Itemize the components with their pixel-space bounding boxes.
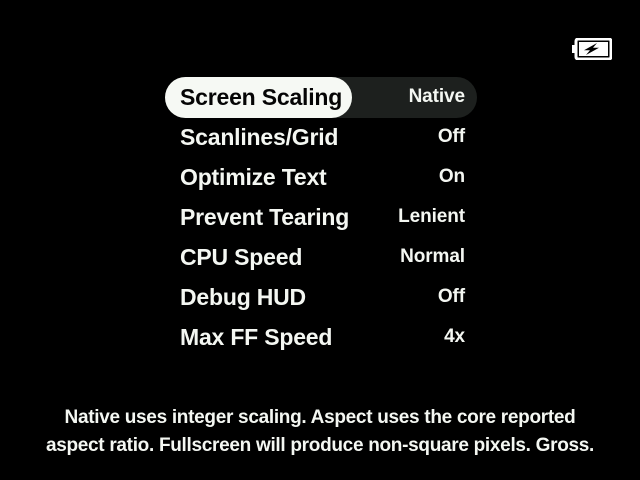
menu-item-debug-hud[interactable]: Debug HUD Off xyxy=(165,277,477,317)
menu-item-label: Optimize Text xyxy=(165,164,327,191)
menu-item-scanlines-grid[interactable]: Scanlines/Grid Off xyxy=(165,117,477,157)
menu-item-max-ff-speed[interactable]: Max FF Speed 4x xyxy=(165,317,477,357)
menu-item-value[interactable]: Lenient xyxy=(398,206,477,228)
help-text-line-1: Native uses integer scaling. Aspect uses… xyxy=(0,404,640,432)
menu-item-value[interactable]: Normal xyxy=(400,246,477,268)
menu-item-label: CPU Speed xyxy=(165,244,302,271)
help-text-line-2: aspect ratio. Fullscreen will produce no… xyxy=(0,432,640,460)
menu-item-label: Debug HUD xyxy=(165,284,306,311)
status-bar xyxy=(0,0,640,70)
settings-menu: Screen Scaling Native Scanlines/Grid Off… xyxy=(165,77,477,357)
menu-item-value[interactable]: Native xyxy=(409,86,477,108)
menu-item-label: Screen Scaling xyxy=(165,84,342,111)
menu-item-label: Scanlines/Grid xyxy=(165,124,338,151)
menu-item-value[interactable]: Off xyxy=(438,126,477,148)
menu-item-value[interactable]: 4x xyxy=(444,326,477,348)
menu-item-cpu-speed[interactable]: CPU Speed Normal xyxy=(165,237,477,277)
battery-charging-icon xyxy=(572,38,612,60)
menu-item-prevent-tearing[interactable]: Prevent Tearing Lenient xyxy=(165,197,477,237)
menu-item-value[interactable]: Off xyxy=(438,286,477,308)
settings-screen: Screen Scaling Native Scanlines/Grid Off… xyxy=(0,0,640,480)
menu-item-label: Max FF Speed xyxy=(165,324,332,351)
help-text: Native uses integer scaling. Aspect uses… xyxy=(0,404,640,460)
menu-item-optimize-text[interactable]: Optimize Text On xyxy=(165,157,477,197)
menu-item-label: Prevent Tearing xyxy=(165,204,349,231)
menu-item-screen-scaling[interactable]: Screen Scaling Native xyxy=(165,77,477,117)
menu-item-value[interactable]: On xyxy=(439,166,477,188)
